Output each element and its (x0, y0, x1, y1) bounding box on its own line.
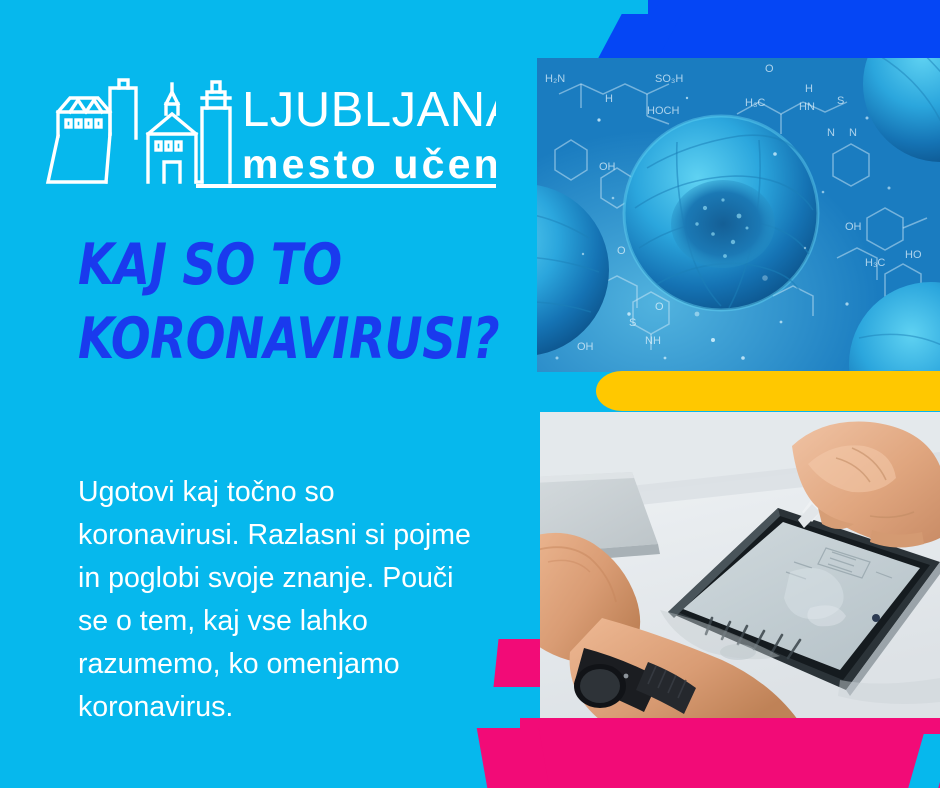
church-roof-icon (148, 114, 196, 134)
virus-photo-content: H₂N SO₃H HOCH H H₃C H HN S SO₃H N N OH O… (537, 58, 940, 372)
castle-tower-icon (110, 88, 136, 138)
page-title: KAJ SO TO KORONAVIRUSI? (78, 228, 422, 376)
svg-text:O: O (617, 245, 626, 257)
svg-text:H: H (605, 93, 613, 105)
svg-text:O: O (765, 63, 774, 75)
castle-roof-detail-icon (70, 100, 102, 112)
svg-text:S: S (629, 317, 636, 329)
poster-canvas: LJUBLJANA mesto učenja KAJ SO TO KORONAV… (0, 0, 940, 788)
svg-text:S: S (837, 95, 844, 107)
headline-line-2: KORONAVIRUSI? (78, 302, 422, 376)
yellow-brush-stroke (596, 371, 940, 411)
svg-text:OH: OH (845, 221, 862, 233)
ljubljana-skyline-icon (48, 80, 230, 182)
svg-text:O: O (655, 301, 664, 313)
svg-text:H₃C: H₃C (745, 97, 765, 109)
svg-text:H₃C: H₃C (865, 257, 885, 269)
virus-cell-main (624, 116, 818, 310)
castle-base-icon (48, 136, 106, 182)
ljubljana-mesto-ucenja-logo: LJUBLJANA mesto učenja (44, 78, 496, 190)
svg-text:N: N (849, 127, 857, 139)
castle-tower-slope-icon (106, 134, 110, 182)
svg-text:H: H (805, 83, 813, 95)
svg-text:HOCH: HOCH (647, 105, 679, 117)
church-door-icon (164, 162, 180, 182)
svg-text:NH: NH (645, 335, 661, 347)
logo-subtitle: mesto učenja (242, 141, 496, 187)
skyscraper-body-icon (202, 108, 230, 182)
svg-text:OH: OH (599, 161, 616, 173)
church-spire-icon (166, 92, 178, 104)
headline-line-1: KAJ SO TO (78, 228, 422, 302)
svg-text:H₂N: H₂N (545, 73, 565, 85)
blue-brush-stroke (648, 0, 940, 58)
svg-text:HO: HO (905, 249, 922, 261)
virus-cells-photo: H₂N SO₃H HOCH H H₃C H HN S SO₃H N N OH O… (537, 58, 940, 372)
svg-text:N: N (827, 127, 835, 139)
skyscraper-crown-icon (207, 92, 225, 108)
body-paragraph: Ugotovi kaj točno so koronavirusi. Razla… (78, 471, 478, 729)
svg-text:OH: OH (577, 341, 594, 353)
pink-brush-stroke (520, 718, 940, 788)
svg-text:SO₃H: SO₃H (655, 73, 683, 85)
tablet-stylus-photo (540, 412, 940, 720)
tablet-photo-content (540, 412, 940, 720)
svg-text:HN: HN (799, 101, 815, 113)
logo-title: LJUBLJANA (242, 83, 496, 137)
